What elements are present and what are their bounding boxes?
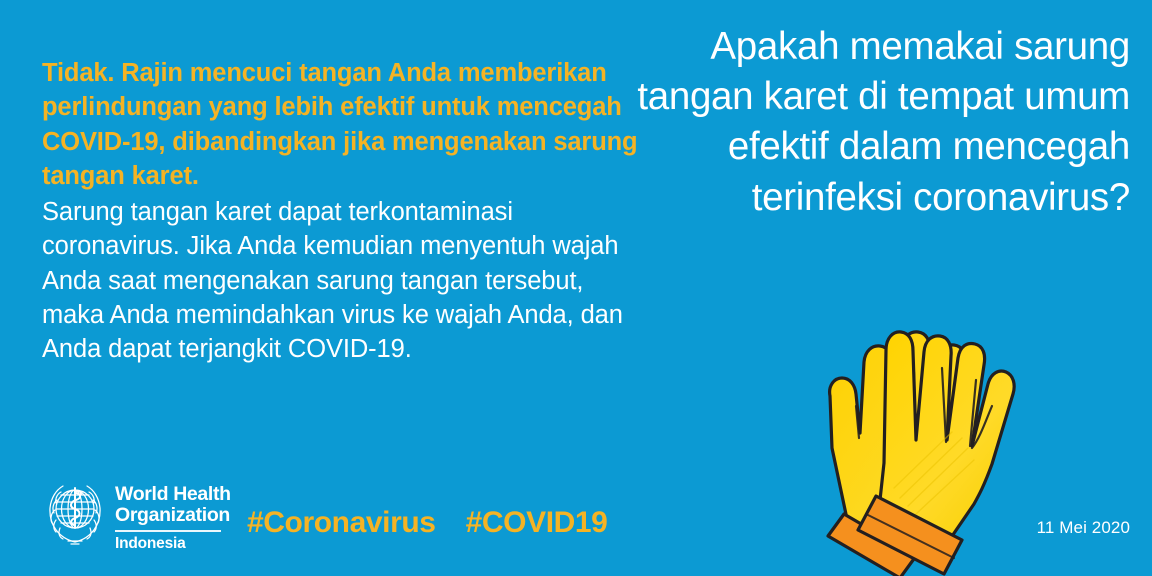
who-logo-divider <box>115 530 221 532</box>
infographic-poster: Tidak. Rajin mencuci tangan Anda memberi… <box>0 0 1152 576</box>
publication-date: 11 Mei 2020 <box>1037 519 1130 536</box>
who-wordmark: World Health Organization Indonesia <box>115 478 231 552</box>
answer-body-text: Sarung tangan karet dapat terkontaminasi… <box>42 195 642 366</box>
who-emblem-icon <box>44 480 106 546</box>
hashtag-coronavirus: #Coronavirus <box>247 508 436 538</box>
who-name-line-2: Organization <box>115 505 231 526</box>
who-name-line-1: World Health <box>115 484 231 505</box>
answer-lead-text: Tidak. Rajin mencuci tangan Anda memberi… <box>42 56 662 193</box>
question-headline: Apakah memakai sarung tangan karet di te… <box>610 22 1130 223</box>
hashtag-group: #Coronavirus #COVID19 <box>247 508 607 538</box>
who-logo: World Health Organization Indonesia <box>44 478 231 554</box>
who-country-label: Indonesia <box>115 535 231 552</box>
answer-block: Tidak. Rajin mencuci tangan Anda memberi… <box>42 56 662 367</box>
hashtag-covid19: #COVID19 <box>466 508 608 538</box>
